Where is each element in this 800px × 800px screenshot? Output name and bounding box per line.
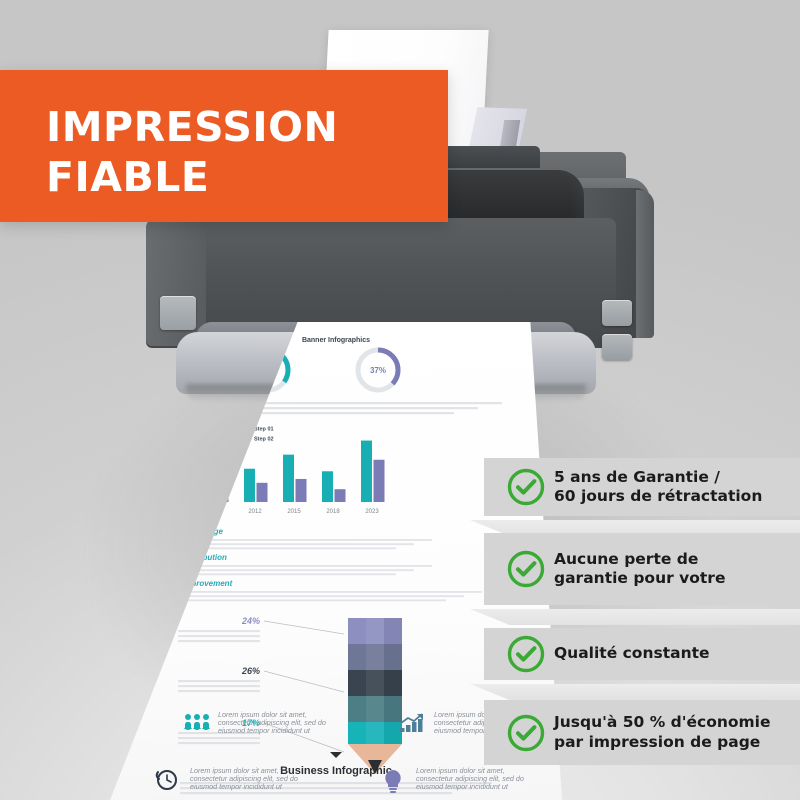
- feature-divider-3: [470, 684, 800, 700]
- feature-divider-2: [470, 609, 800, 625]
- check-circle-icon: [506, 549, 546, 589]
- feature-label-2: Aucune perte de garantie pour votre: [554, 550, 725, 589]
- feature-item-2[interactable]: Aucune perte de garantie pour votre: [484, 533, 800, 605]
- check-circle-icon: [506, 713, 546, 753]
- feature-label-1: 5 ans de Garantie / 60 jours de rétracta…: [554, 468, 762, 507]
- lightbulb-icon: [385, 770, 400, 793]
- check-circle-icon: [506, 634, 546, 674]
- people-group-icon: [184, 714, 210, 730]
- clock-phone-icon: [157, 771, 176, 789]
- headline-banner: IMPRESSION FIABLE: [0, 70, 448, 222]
- feature-label-3: Qualité constante: [554, 644, 710, 664]
- icon-item-text-1: eiusmod tempor incididunt ut: [218, 726, 311, 735]
- feature-item-1[interactable]: 5 ans de Garantie / 60 jours de rétracta…: [484, 458, 800, 516]
- page-title: IMPRESSION FIABLE: [46, 102, 338, 202]
- check-circle-icon: [506, 467, 546, 507]
- promo-graphic: Banner Infographics35%37%Step 01Step 022…: [0, 0, 800, 800]
- feature-item-4[interactable]: Jusqu'à 50 % d'économie par impression d…: [484, 700, 800, 765]
- printer-button-left[interactable]: [160, 296, 196, 330]
- icon-item-text-3: eiusmod tempor incididunt ut: [190, 782, 283, 791]
- icon-item-text-4: eiusmod tempor incididunt ut: [416, 782, 509, 791]
- growth-chart-icon: [400, 714, 423, 732]
- printer-button-right-bottom[interactable]: [602, 334, 632, 360]
- feature-item-3[interactable]: Qualité constante: [484, 628, 800, 680]
- feature-label-4: Jusqu'à 50 % d'économie par impression d…: [554, 713, 771, 752]
- printer-right-edge: [636, 190, 654, 338]
- printer-button-right-top[interactable]: [602, 300, 632, 326]
